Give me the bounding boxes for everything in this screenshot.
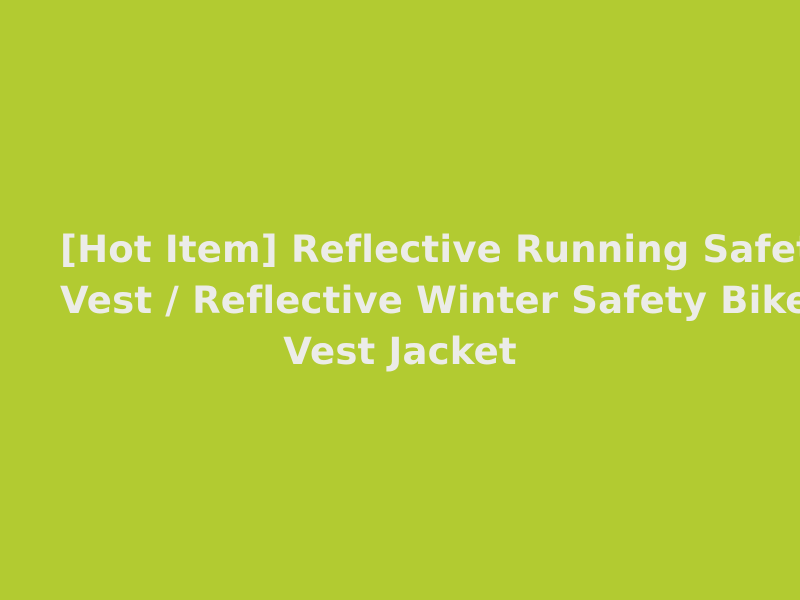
product-title-line-2: Vest / Reflective Winter Safety Bike xyxy=(60,275,740,326)
product-title-line-3: Vest Jacket xyxy=(60,326,740,377)
product-image-placeholder: [Hot Item] Reflective Running Safety Ves… xyxy=(0,0,800,600)
product-title-block: [Hot Item] Reflective Running Safety Ves… xyxy=(50,224,750,377)
product-title-line-1: [Hot Item] Reflective Running Safety xyxy=(60,224,740,275)
